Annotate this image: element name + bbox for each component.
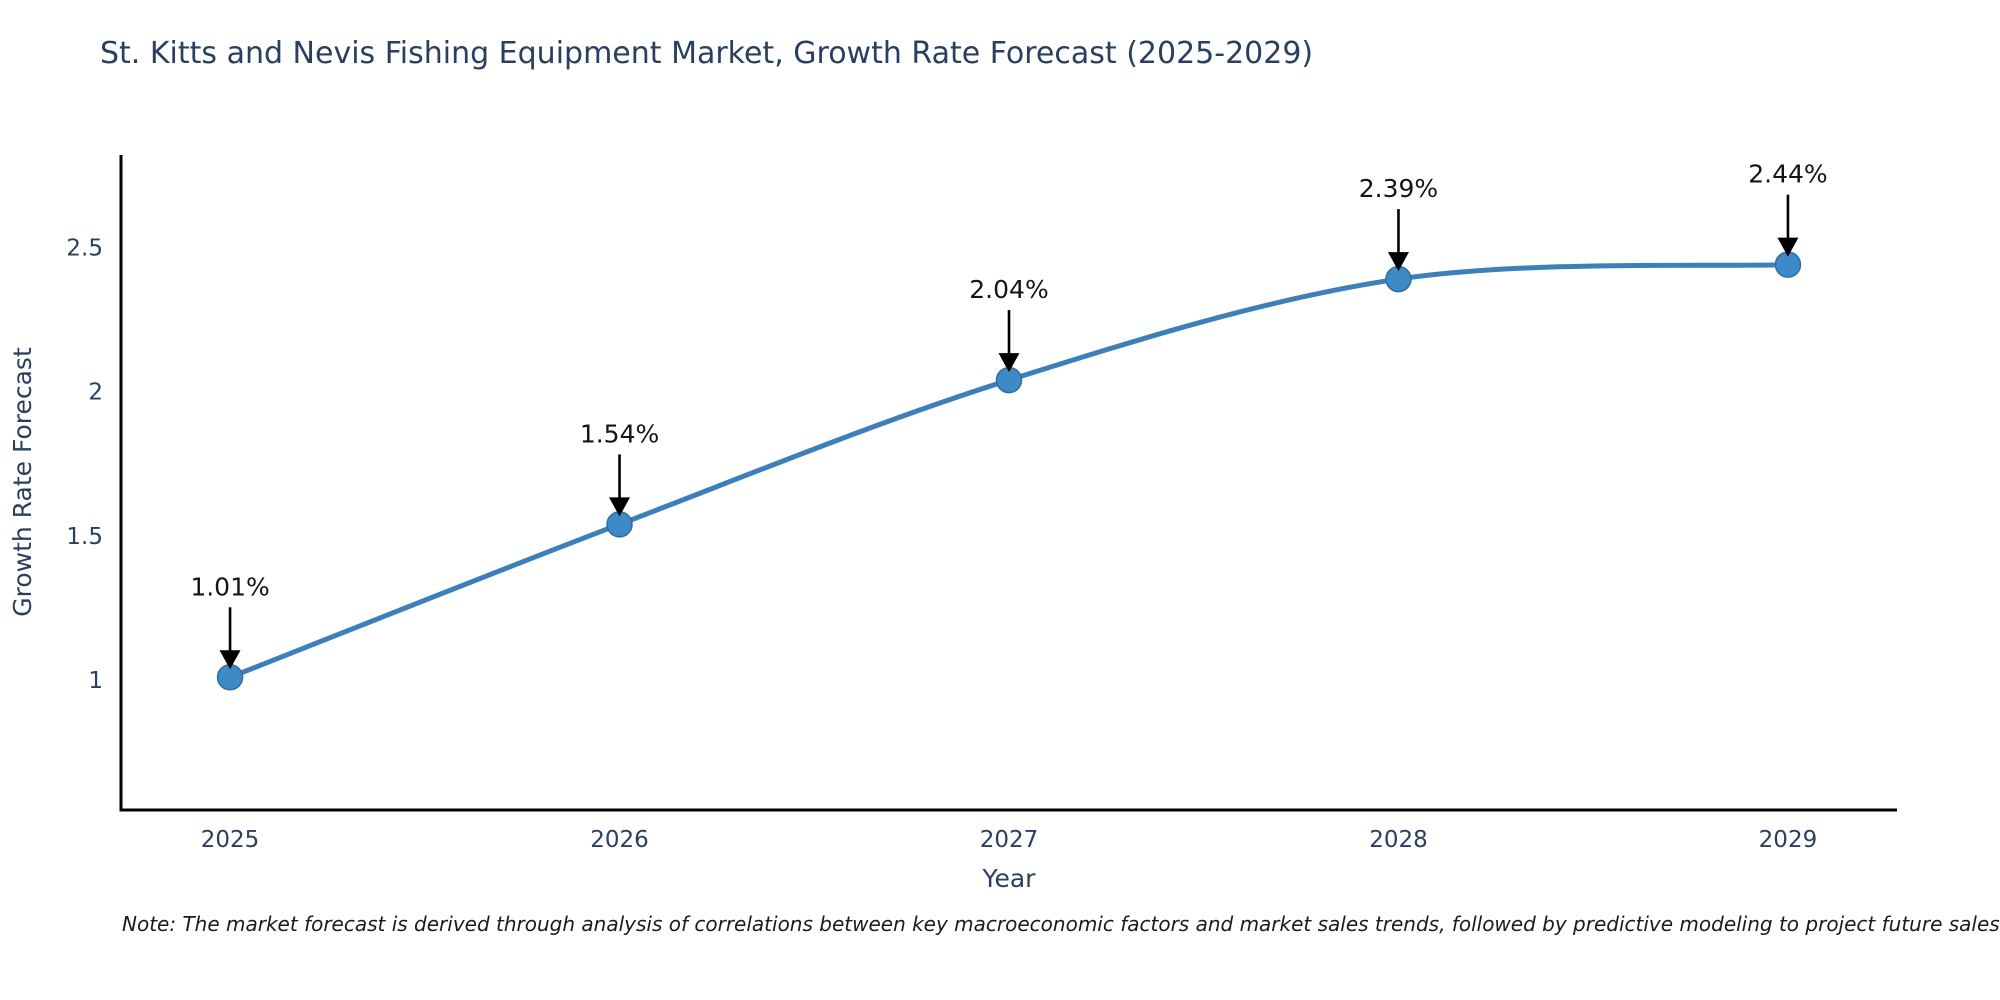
chart-container: St. Kitts and Nevis Fishing Equipment Ma… <box>0 0 2000 1000</box>
x-axis-tick-labels: 20252026202720282029 <box>201 827 1817 853</box>
y-axis-tick-labels: 11.522.5 <box>66 235 103 694</box>
x-axis-tick-label: 2027 <box>980 827 1039 853</box>
x-axis-tick-label: 2028 <box>1369 827 1428 853</box>
data-point-label: 2.44% <box>1748 160 1827 189</box>
data-point-label: 1.54% <box>580 419 659 448</box>
y-axis-title: Growth Rate Forecast <box>8 347 37 617</box>
x-axis-tick-label: 2026 <box>590 827 649 853</box>
x-axis-tick-label: 2029 <box>1759 827 1818 853</box>
axis-spines <box>121 155 1897 810</box>
data-point-label: 1.01% <box>190 572 269 601</box>
y-axis-tick-label: 2 <box>88 380 103 406</box>
y-axis-tick-label: 1 <box>88 668 103 694</box>
chart-footnote: Note: The market forecast is derived thr… <box>122 912 2000 936</box>
x-axis-tick-label: 2025 <box>201 827 260 853</box>
y-axis-tick-label: 1.5 <box>66 524 103 550</box>
data-point-annotations: 1.01%1.54%2.04%2.39%2.44% <box>190 160 1827 670</box>
data-point-label: 2.04% <box>969 275 1048 304</box>
y-axis-tick-label: 2.5 <box>66 235 103 261</box>
line-chart-plot: 11.522.5 20252026202720282029 1.01%1.54%… <box>0 0 2000 1000</box>
data-point-label: 2.39% <box>1359 174 1438 203</box>
x-axis-title: Year <box>982 864 1037 893</box>
